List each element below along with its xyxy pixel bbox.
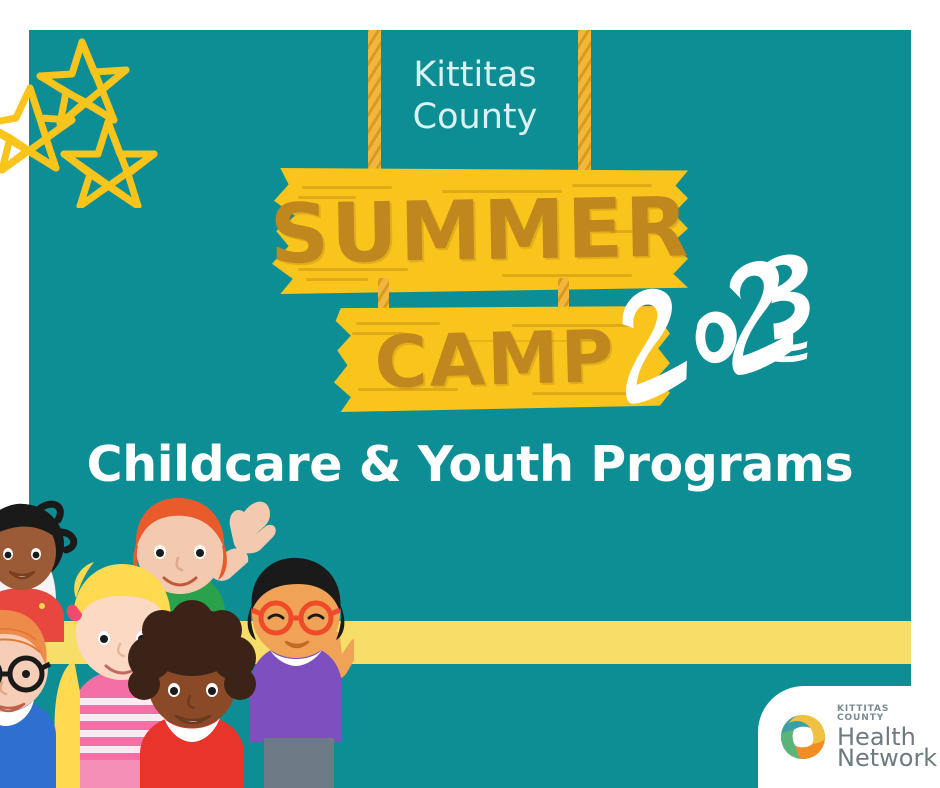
header-line-1: Kittitas bbox=[380, 54, 570, 96]
children-group-illustration bbox=[0, 492, 354, 788]
logo-wordmark: KITTITAS COUNTY Health Network bbox=[837, 705, 940, 770]
logo-card: KITTITAS COUNTY Health Network bbox=[758, 686, 940, 788]
headline: Childcare & Youth Programs bbox=[29, 436, 911, 493]
header-line-2: County bbox=[380, 96, 570, 138]
rope-icon-right bbox=[578, 30, 591, 182]
summer-camp-poster: Kittitas County SUMMER bbox=[0, 0, 940, 788]
page-title: Kittitas County bbox=[380, 54, 570, 138]
pinwheel-swirl-icon bbox=[778, 712, 828, 762]
logo-name-line-2: Network bbox=[837, 746, 940, 770]
logo-org-line: KITTITAS COUNTY bbox=[837, 705, 940, 723]
star-doodle-icon bbox=[0, 28, 166, 208]
summer-sign: SUMMER bbox=[272, 168, 688, 294]
